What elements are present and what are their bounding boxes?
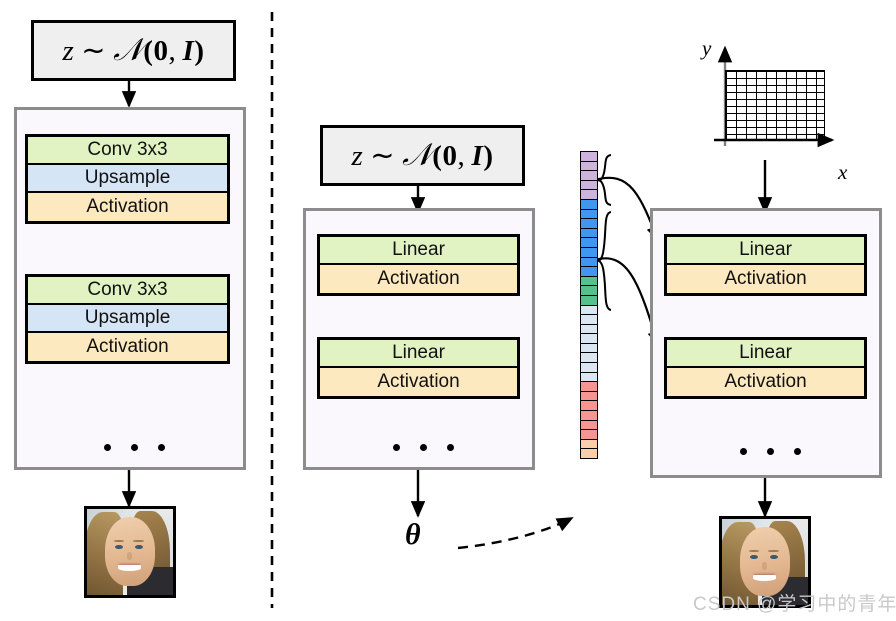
layer-activation-r2: Activation	[667, 368, 864, 396]
coordinate-grid	[725, 70, 825, 140]
layer-conv-2: Conv 3x3	[28, 277, 227, 305]
right-linear-block-2[interactable]: Linear Activation	[664, 337, 867, 399]
layer-activation-m2: Activation	[320, 368, 517, 396]
latent-noise-label-middle: z∼𝒩(0, I)	[351, 137, 493, 174]
brace-2-arrow	[595, 258, 658, 345]
right-linear-block-1[interactable]: Linear Activation	[664, 234, 867, 296]
layer-linear-2: Linear	[320, 340, 517, 368]
theta-dashed-arrow	[458, 518, 572, 548]
output-face-left	[84, 506, 176, 598]
y-axis-label: y	[702, 36, 711, 61]
latent-noise-box-middle: z∼𝒩(0, I)	[320, 125, 525, 186]
layer-activation-1: Activation	[28, 193, 227, 221]
conv-block-2[interactable]: Conv 3x3 Upsample Activation	[25, 274, 230, 364]
conv-block-1[interactable]: Conv 3x3 Upsample Activation	[25, 134, 230, 224]
latent-noise-label-left: z∼𝒩(0, I)	[62, 32, 204, 69]
layer-linear-r2: Linear	[667, 340, 864, 368]
x-axis-label: x	[838, 160, 847, 185]
vector-cell	[580, 448, 598, 459]
layer-linear-1: Linear	[320, 237, 517, 265]
layer-activation-2: Activation	[28, 333, 227, 361]
theta-label: θ	[405, 518, 421, 552]
layer-upsample-2: Upsample	[28, 305, 227, 333]
layer-activation-m1: Activation	[320, 265, 517, 293]
mlp-block-2[interactable]: Linear Activation	[317, 337, 520, 399]
figure-canvas: z∼𝒩(0, I) Conv 3x3 Upsample Activation C…	[0, 0, 896, 621]
layer-upsample-1: Upsample	[28, 165, 227, 193]
ellipsis-right	[740, 448, 801, 455]
mlp-block-1[interactable]: Linear Activation	[317, 234, 520, 296]
ellipsis-left	[104, 444, 165, 451]
brace-1-arrow	[595, 178, 658, 240]
latent-noise-box-left: z∼𝒩(0, I)	[31, 20, 236, 81]
ellipsis-middle	[393, 444, 454, 451]
layer-conv-1: Conv 3x3	[28, 137, 227, 165]
watermark: CSDN @学习中的青年	[693, 589, 896, 616]
layer-activation-r1: Activation	[667, 265, 864, 293]
parameter-vector[interactable]	[580, 152, 598, 459]
layer-linear-r1: Linear	[667, 237, 864, 265]
